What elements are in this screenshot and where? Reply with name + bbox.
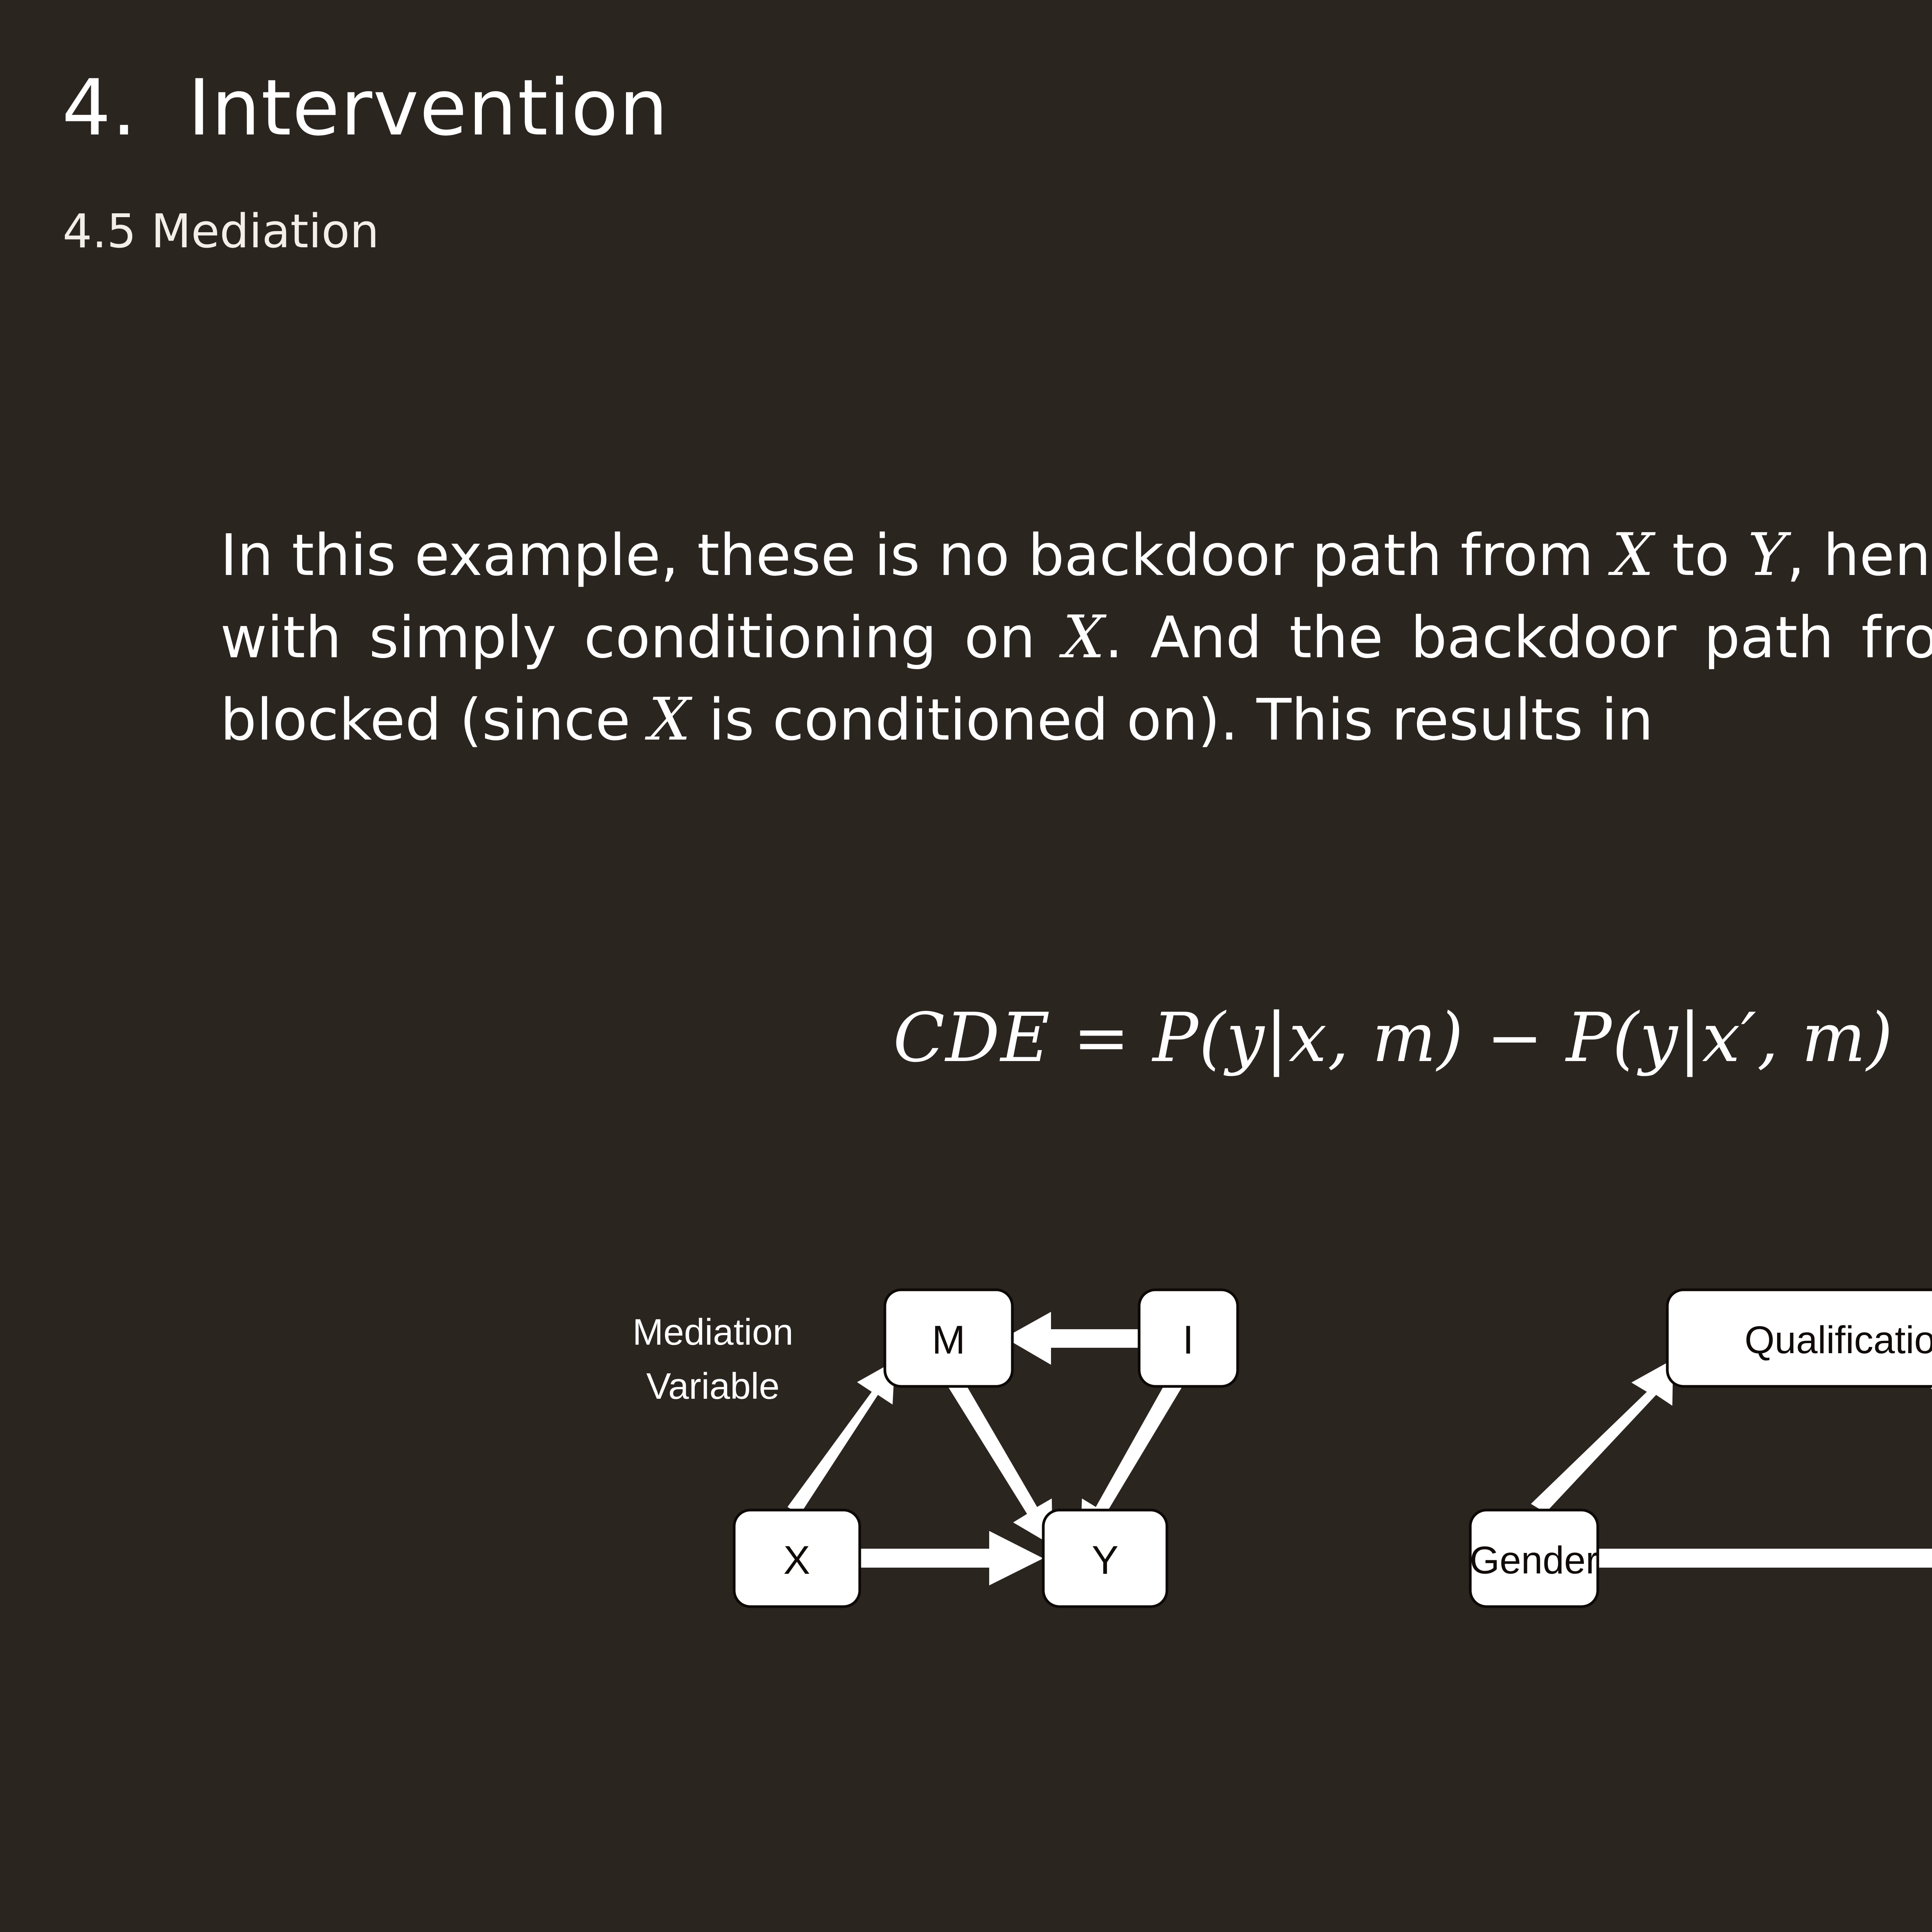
right-diagram: Qualification Gender Hiring [1469, 1290, 1932, 1607]
paragraph-text: with simply conditioning on [220, 604, 1063, 671]
causal-diagrams: Mediation Variable [0, 1275, 1932, 1777]
edge-gender-to-hiring [1599, 1531, 1932, 1585]
node-qualification-label: Qualification [1745, 1318, 1932, 1362]
mediation-caption-line1: Mediation [633, 1311, 793, 1353]
paragraph-text: . And the backdoor path from [1105, 604, 1932, 671]
node-m-label: M [932, 1318, 966, 1362]
math-variable: X [1063, 603, 1105, 671]
node-qualification[interactable]: Qualification [1667, 1290, 1932, 1386]
math-variable: X [649, 685, 690, 753]
cde-equation: CDE = P(y|x, m) − P(y|x′, m) [0, 999, 1932, 1077]
node-i-label: I [1183, 1318, 1194, 1362]
edge-gender-to-qualification [1531, 1359, 1673, 1513]
body-paragraph: In this example, these is no backdoor pa… [220, 514, 1932, 760]
node-i[interactable]: I [1139, 1290, 1238, 1386]
node-m[interactable]: M [885, 1290, 1012, 1386]
node-gender-label: Gender [1469, 1539, 1599, 1582]
paragraph-text: is conditioned on). This results in [690, 687, 1653, 753]
node-y[interactable]: Y [1043, 1510, 1167, 1607]
page-title: 4. Intervention [62, 70, 669, 147]
node-y-label: Y [1092, 1538, 1118, 1583]
math-variable: Y [1748, 520, 1786, 589]
left-diagram: Mediation Variable [633, 1290, 1238, 1607]
paragraph-text: In this example, these is no backdoor pa… [220, 522, 1612, 588]
node-x[interactable]: X [734, 1510, 860, 1607]
mediation-caption-line2: Variable [646, 1366, 779, 1407]
paragraph-text: , hence we can replace [1787, 522, 1932, 588]
node-x-label: X [783, 1538, 810, 1583]
page-subtitle: 4.5 Mediation [63, 209, 379, 255]
edge-i-to-m [1005, 1312, 1140, 1365]
node-gender[interactable]: Gender [1469, 1510, 1599, 1607]
edge-x-to-m [787, 1361, 895, 1515]
edge-x-to-y [861, 1531, 1043, 1585]
paragraph-text: to [1654, 522, 1748, 588]
math-variable: X [1612, 520, 1654, 589]
